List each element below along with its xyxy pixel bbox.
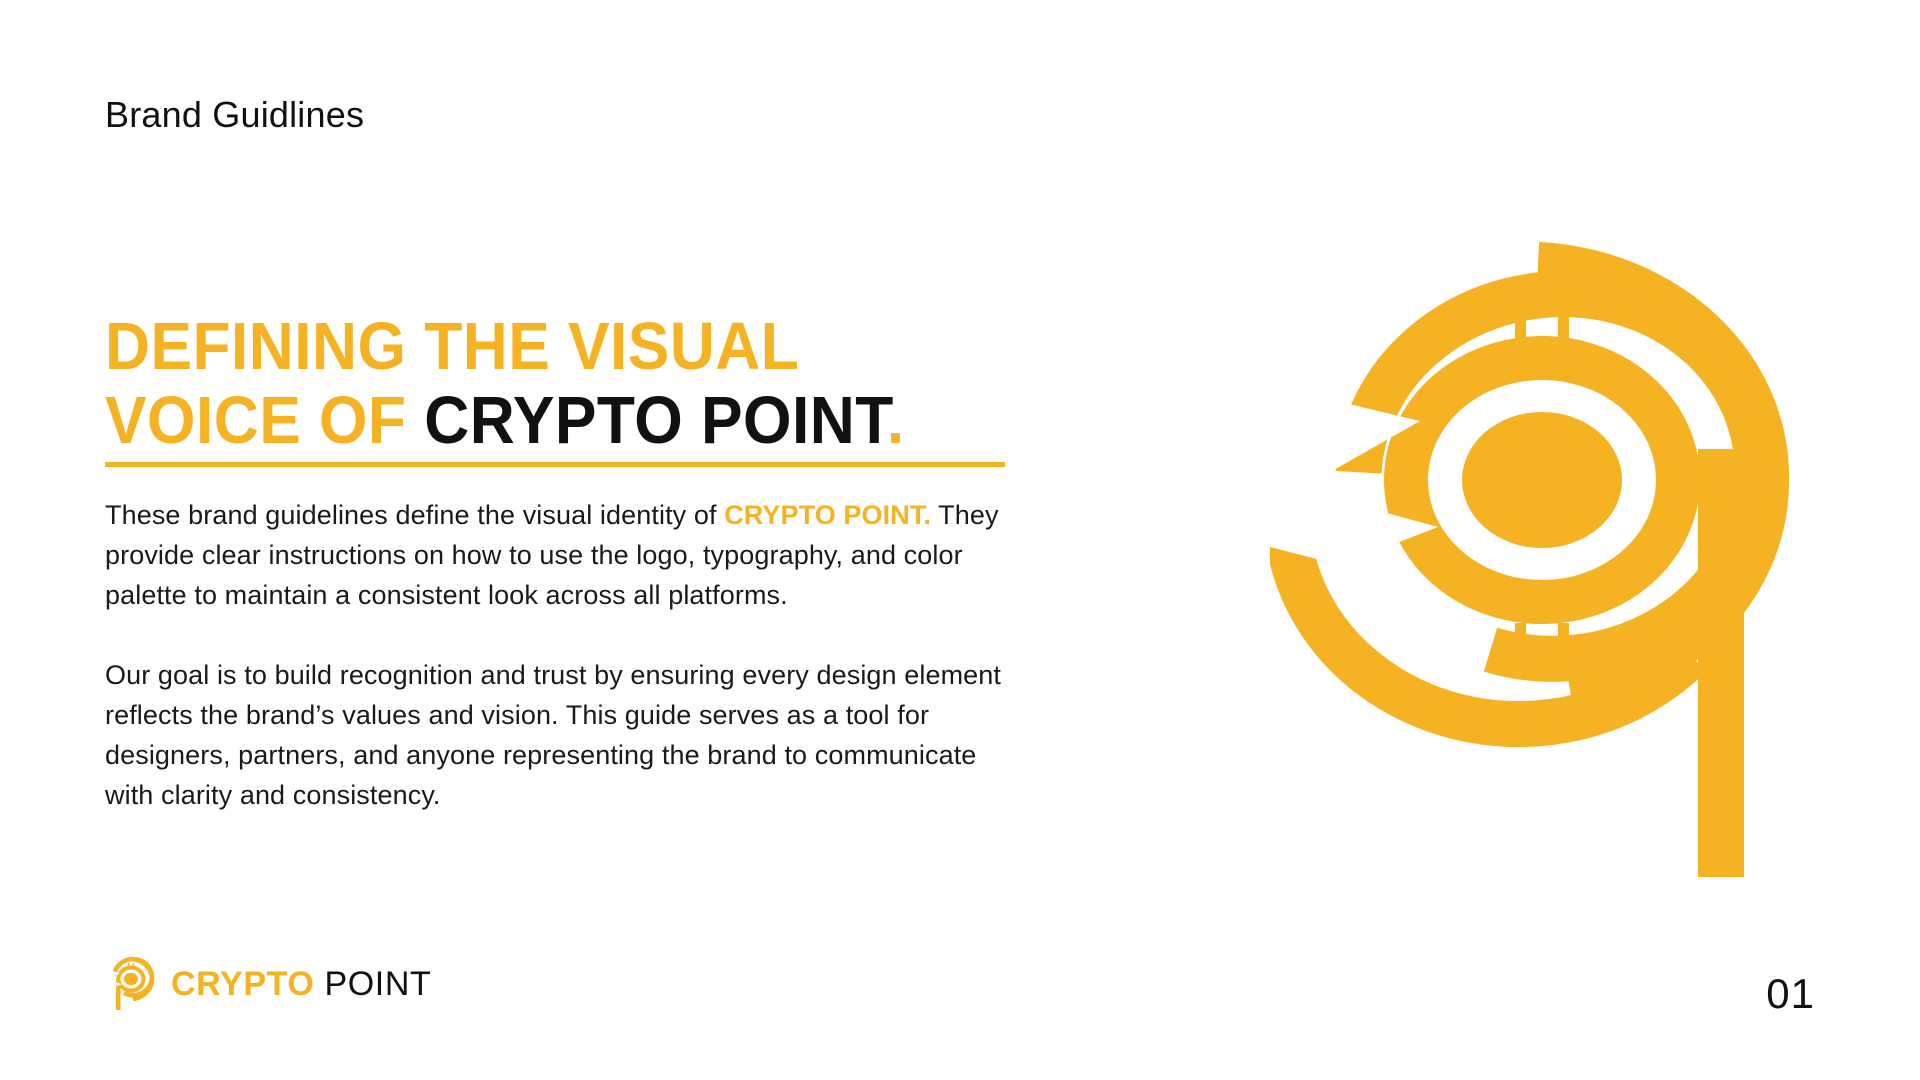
body-copy: These brand guidelines define the visual… — [105, 495, 1005, 815]
footer-wordmark-primary: CRYPTO — [171, 965, 314, 1003]
footer-logo-lockup: CRYPTO POINT — [105, 956, 431, 1012]
footer-wordmark: CRYPTO POINT — [171, 967, 431, 1001]
headline-line-2-accent: VOICE OF — [105, 383, 424, 458]
headline-underline-rule — [105, 462, 1005, 467]
paragraph-goal: Our goal is to build recognition and tru… — [105, 655, 1005, 815]
page-title: DEFINING THE VISUAL VOICE OF CRYPTO POIN… — [105, 310, 961, 459]
paragraph-intro: These brand guidelines define the visual… — [105, 495, 1005, 615]
paragraph-intro-lead: These brand guidelines define the visual… — [105, 500, 724, 530]
headline-line-2: VOICE OF CRYPTO POINT. — [105, 384, 961, 458]
headline-line-1-accent: DEFINING THE VISUAL — [105, 309, 799, 384]
center-dot — [1462, 412, 1622, 548]
crypto-point-hero-icon — [1270, 235, 1830, 885]
logo-stem — [1698, 449, 1744, 877]
crypto-point-logo-icon — [105, 956, 157, 1012]
page-number: 01 — [1766, 970, 1815, 1018]
paragraph-inline-brand: CRYPTO POINT. — [724, 500, 931, 530]
hero-logo-mark — [1270, 235, 1830, 885]
section-kicker: Brand Guidlines — [105, 95, 364, 135]
headline-line-1: DEFINING THE VISUAL — [105, 310, 961, 384]
footer-wordmark-secondary: POINT — [314, 965, 431, 1003]
headline-block: DEFINING THE VISUAL VOICE OF CRYPTO POIN… — [105, 310, 1025, 459]
slide-canvas: Brand Guidlines DEFINING THE VISUAL VOIC… — [0, 0, 1920, 1080]
headline-period: . — [887, 383, 905, 458]
headline-line-2-dark: CRYPTO POINT — [424, 383, 887, 458]
